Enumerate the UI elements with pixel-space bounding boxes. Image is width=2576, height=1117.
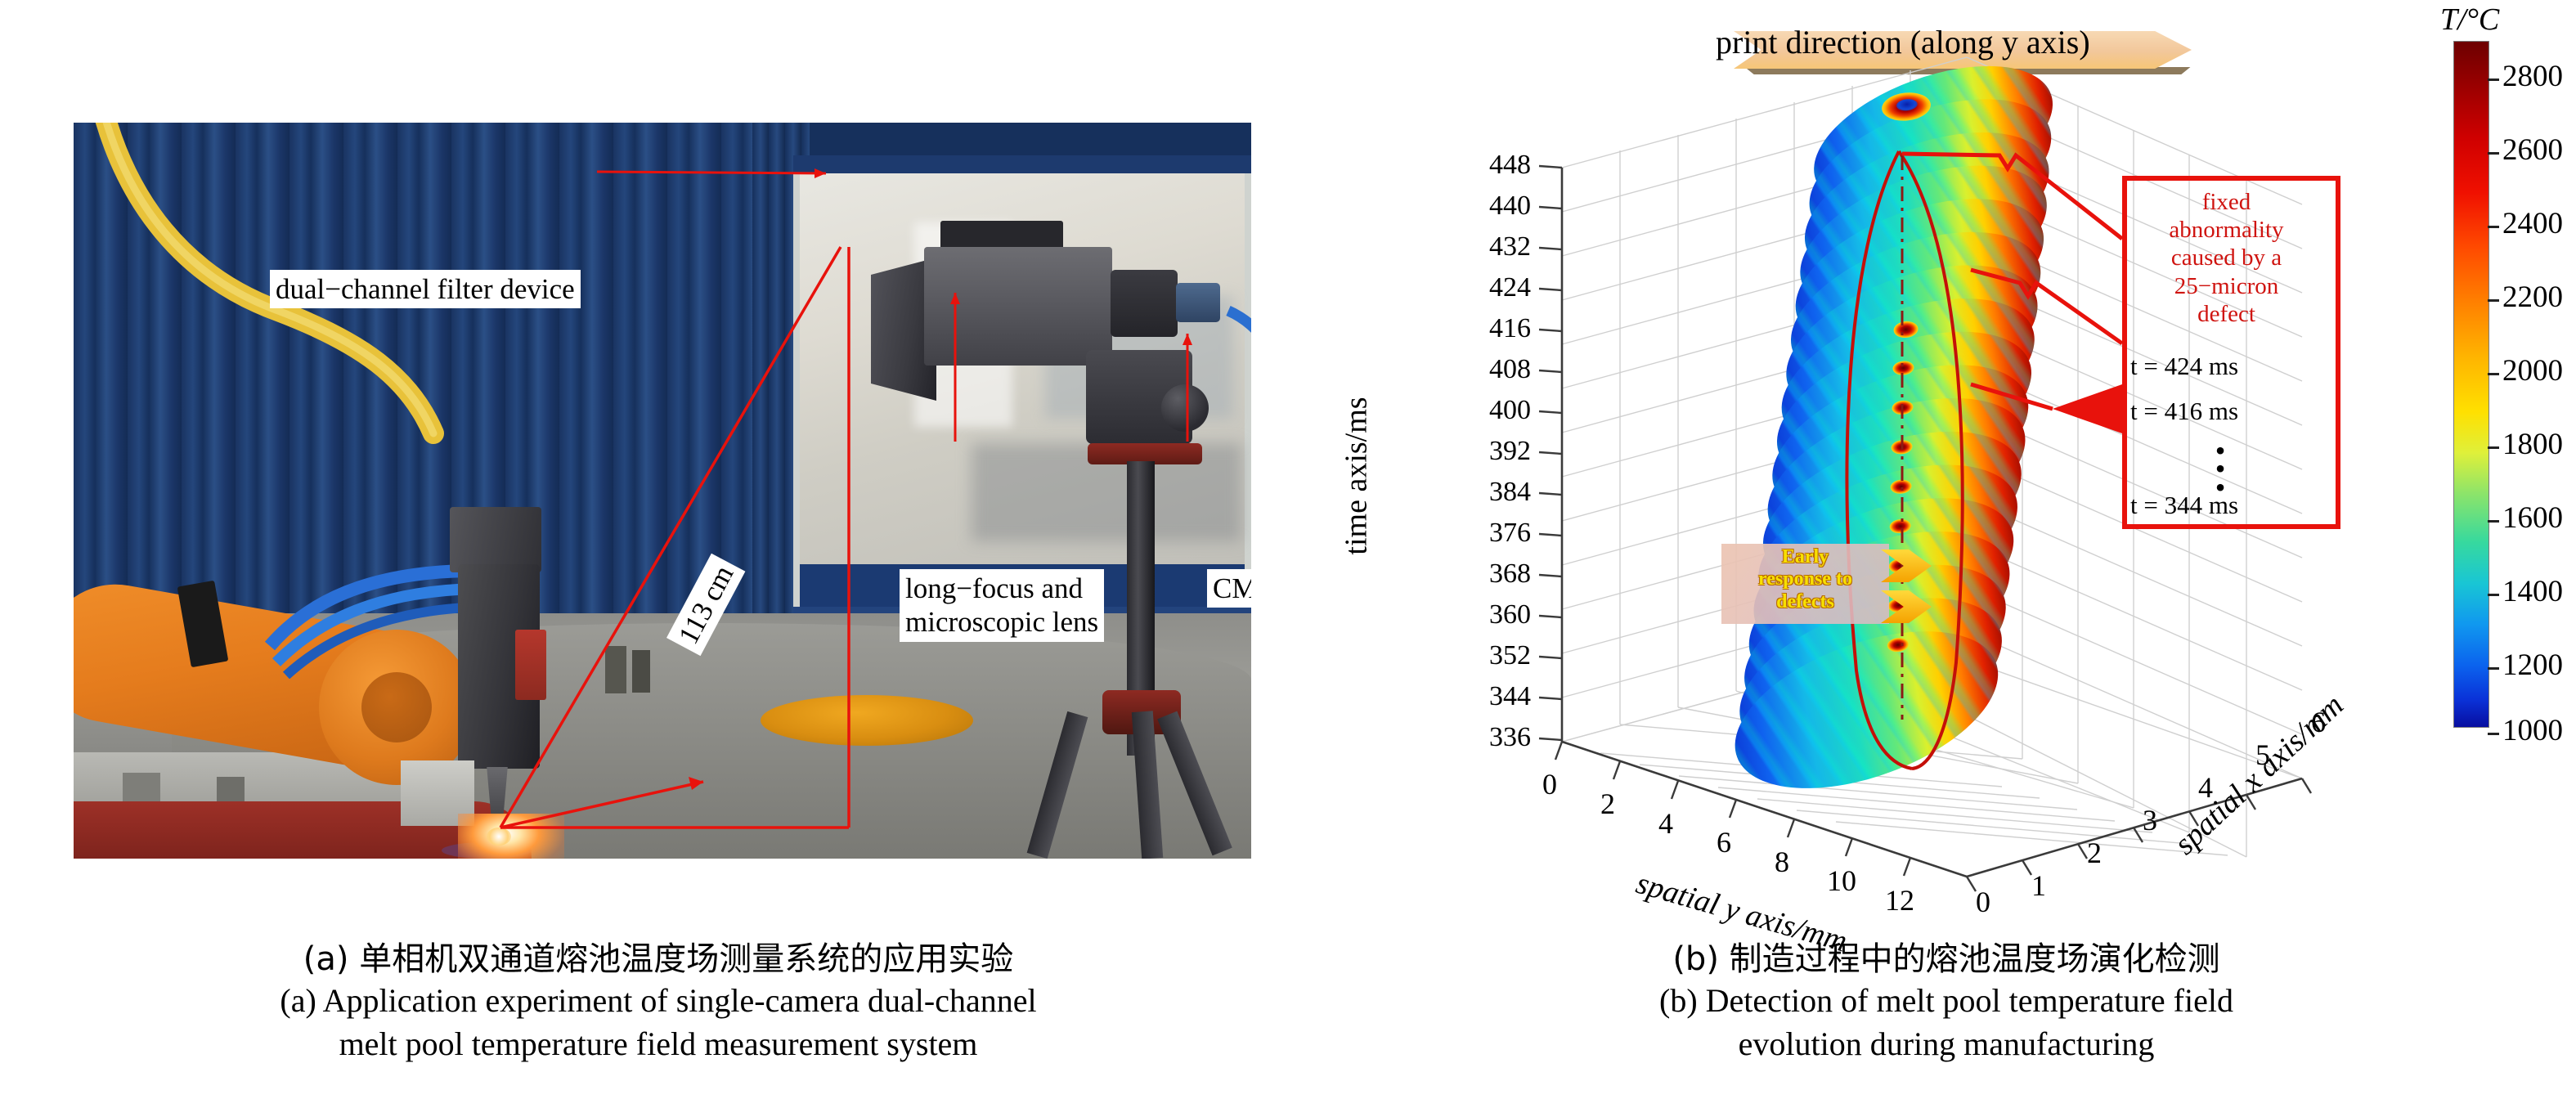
- y-tick-0: 0: [1542, 767, 1557, 801]
- colorbar-title: T/°C: [2440, 2, 2499, 38]
- cbar-label-2200: 2200: [2502, 280, 2563, 315]
- x-tick-2: 2: [2087, 836, 2102, 870]
- time-tick-392: 392: [1441, 436, 1531, 467]
- cbar-tick-2800: [2488, 79, 2499, 81]
- early-response-text: Early response to defects: [1721, 546, 1889, 613]
- figure-root: dual−channel filter device long−focus an…: [0, 0, 2576, 1117]
- y-tick-2: 2: [1600, 787, 1615, 821]
- cbar-label-1000: 1000: [2502, 713, 2563, 748]
- early-line-1: Early: [1721, 546, 1889, 568]
- cbar-label-1800: 1800: [2502, 427, 2563, 462]
- time-tick-416: 416: [1441, 313, 1531, 344]
- defect-text-line-5: defect: [2126, 300, 2327, 328]
- time-tick-384: 384: [1441, 477, 1531, 508]
- early-line-3: defects: [1721, 591, 1889, 613]
- cbar-tick-2000: [2488, 373, 2499, 375]
- cbar-label-2800: 2800: [2502, 59, 2563, 94]
- x-tick-0: 0: [1976, 885, 1990, 919]
- time-tick-440: 440: [1441, 191, 1531, 222]
- caption-a-english-line-1: (a) Application experiment of single-cam…: [0, 980, 1317, 1023]
- caption-b-chinese: (b) 制造过程中的熔池温度场演化检测: [1317, 932, 2576, 980]
- cbar-tick-1200: [2488, 667, 2499, 670]
- caption-b-english-line-2: evolution during manufacturing: [1317, 1023, 2576, 1066]
- x-tick-1: 1: [2031, 868, 2046, 903]
- time-tick-352: 352: [1441, 640, 1531, 671]
- y-tick-12: 12: [1885, 883, 1914, 917]
- cbar-label-2600: 2600: [2502, 132, 2563, 168]
- defect-annotation-text: fixed abnormality caused by a 25−micron …: [2126, 188, 2327, 328]
- x-tick-3: 3: [2143, 803, 2157, 837]
- time-tick-448: 448: [1441, 150, 1531, 181]
- cbar-label-2400: 2400: [2502, 206, 2563, 241]
- time-tick-376: 376: [1441, 518, 1531, 549]
- defect-text-line-3: caused by a: [2126, 244, 2327, 271]
- caption-a-chinese: (a) 单相机双通道熔池温度场测量系统的应用实验: [0, 932, 1317, 980]
- cbar-label-1200: 1200: [2502, 648, 2563, 683]
- cbar-tick-1600: [2488, 520, 2499, 523]
- timestamp-424: t = 424 ms: [2130, 352, 2322, 381]
- y-tick-4: 4: [1658, 806, 1673, 841]
- time-tick-424: 424: [1441, 272, 1531, 303]
- time-tick-368: 368: [1441, 558, 1531, 590]
- measurement-overlay: [74, 123, 1251, 859]
- caption-b-english-line-1: (b) Detection of melt pool temperature f…: [1317, 980, 2576, 1023]
- cbar-label-1400: 1400: [2502, 574, 2563, 609]
- label-cmos: CMOS: [1207, 569, 1251, 608]
- cbar-tick-2400: [2488, 226, 2499, 228]
- time-tick-344: 344: [1441, 681, 1531, 712]
- cbar-tick-2600: [2488, 152, 2499, 155]
- time-tick-408: 408: [1441, 354, 1531, 385]
- time-tick-360: 360: [1441, 599, 1531, 630]
- experiment-photograph: dual−channel filter device long−focus an…: [74, 123, 1251, 859]
- cbar-tick-1000: [2488, 733, 2499, 735]
- cbar-tick-2200: [2488, 299, 2499, 302]
- y-tick-8: 8: [1775, 845, 1789, 879]
- cbar-label-2000: 2000: [2502, 353, 2563, 388]
- caption-panel-b: (b) 制造过程中的熔池温度场演化检测 (b) Detection of mel…: [1317, 932, 2576, 1066]
- y-tick-10: 10: [1827, 864, 1856, 898]
- time-axis-title: time axis/ms: [1339, 397, 1375, 554]
- time-tick-400: 400: [1441, 395, 1531, 426]
- cbar-tick-1800: [2488, 446, 2499, 449]
- defect-text-line-1: fixed: [2126, 188, 2327, 216]
- early-line-2: response to: [1721, 568, 1889, 590]
- caption-a-english-line-2: melt pool temperature field measurement …: [0, 1023, 1317, 1066]
- defect-text-line-4: 25−micron: [2126, 272, 2327, 300]
- panel-b-3d-plot: print direction (along y axis): [1317, 0, 2576, 916]
- label-dual-channel-filter-device: dual−channel filter device: [270, 270, 581, 308]
- vertical-ellipsis-icon: •••: [2212, 442, 2228, 496]
- cbar-tick-1400: [2488, 594, 2499, 596]
- timestamp-344: t = 344 ms: [2130, 491, 2322, 520]
- panel-a-photo: dual−channel filter device long−focus an…: [0, 0, 1317, 916]
- temperature-colorbar: [2453, 41, 2489, 728]
- time-tick-336: 336: [1441, 722, 1531, 753]
- cbar-label-1600: 1600: [2502, 500, 2563, 536]
- label-long-focus-lens: long−focus and microscopic lens: [900, 569, 1104, 642]
- caption-panel-a: (a) 单相机双通道熔池温度场测量系统的应用实验 (a) Application…: [0, 932, 1317, 1066]
- y-tick-6: 6: [1717, 825, 1731, 859]
- defect-text-line-2: abnormality: [2126, 216, 2327, 244]
- timestamp-416: t = 416 ms: [2130, 397, 2322, 426]
- time-tick-432: 432: [1441, 231, 1531, 262]
